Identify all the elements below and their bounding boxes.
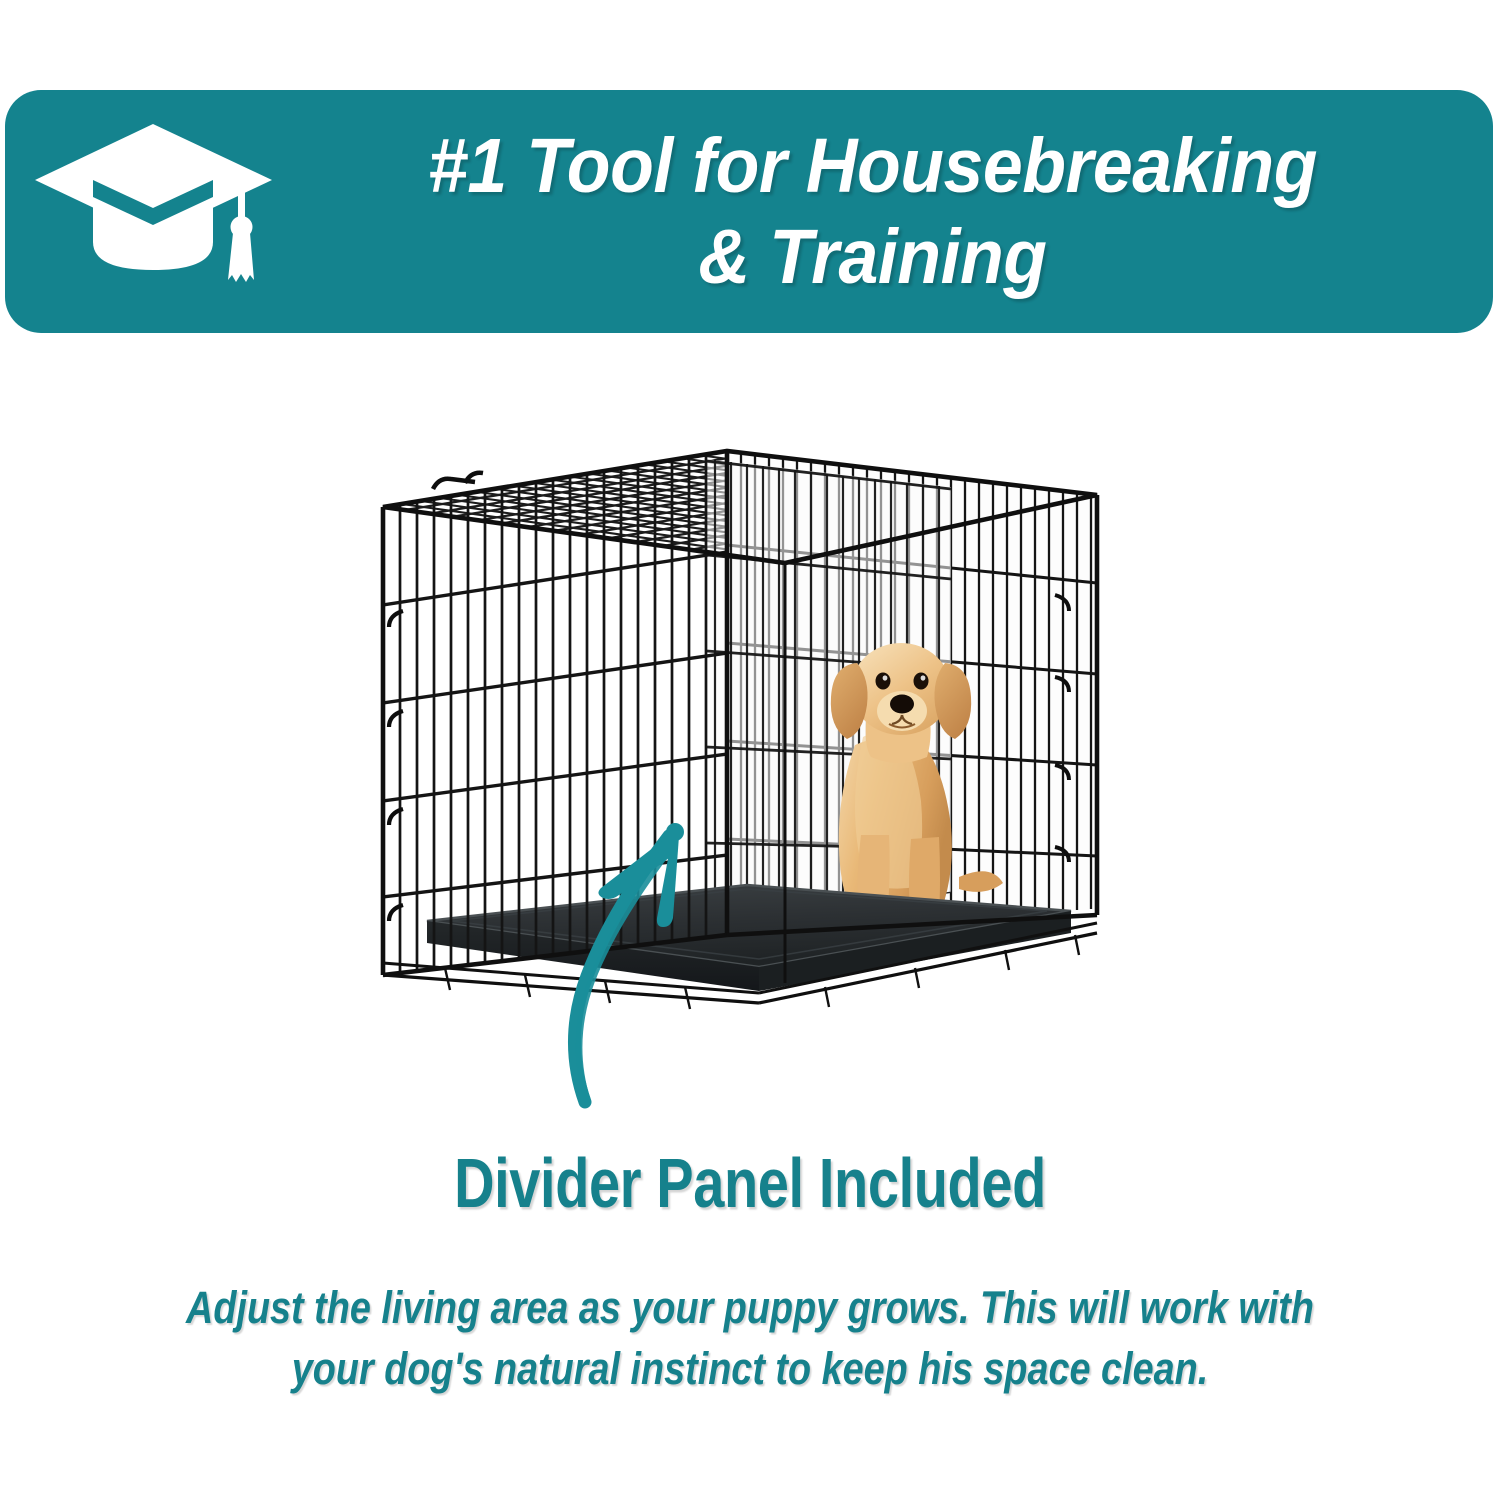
graduation-cap-icon: [35, 118, 275, 293]
divider-description-line-1: Adjust the living area as your puppy gro…: [120, 1278, 1380, 1339]
header-banner: #1 Tool for Housebreaking & Training: [5, 90, 1493, 333]
divider-description-line-2: your dog's natural instinct to keep his …: [120, 1339, 1380, 1400]
divider-headline: Divider Panel Included: [150, 1143, 1350, 1223]
page-title-line-2: & Training: [698, 212, 1046, 303]
crate-carry-handle[interactable]: [433, 473, 483, 489]
divider-description: Adjust the living area as your puppy gro…: [120, 1278, 1380, 1400]
divider-panel-arrow: [525, 770, 785, 1110]
page-title: #1 Tool for Housebreaking & Training: [312, 102, 1433, 322]
page-title-line-1: #1 Tool for Housebreaking: [428, 121, 1317, 212]
